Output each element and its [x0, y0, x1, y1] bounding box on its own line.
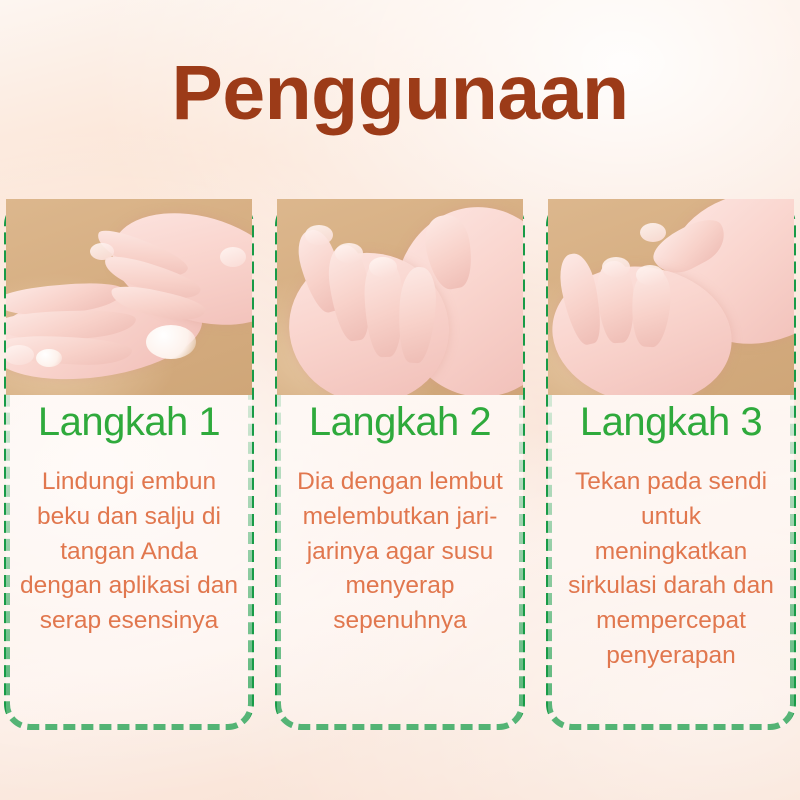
step-2-body: Dia dengan lembut melembutkan jari-jarin…: [281, 465, 519, 639]
fingernail-shape: [636, 265, 664, 285]
step-card-1-frame: Langkah 1 Lindungi embun beku dan salju …: [4, 199, 254, 730]
step-card-2: Langkah 2 Dia dengan lembut melembutkan …: [271, 193, 529, 800]
steps-row: Langkah 1 Lindungi embun beku dan salju …: [0, 193, 800, 800]
step-1-heading: Langkah 1: [38, 401, 220, 443]
usage-instructions-poster: Penggunaan: [0, 0, 800, 800]
fingernail-shape: [369, 257, 397, 277]
step-1-body: Lindungi embun beku dan salju di tangan …: [10, 465, 248, 639]
step-3-photo: [548, 199, 794, 395]
step-3-heading: Langkah 3: [580, 401, 762, 443]
step-2-heading: Langkah 2: [309, 401, 491, 443]
step-1-photo: [6, 199, 252, 395]
page-title-area: Penggunaan: [0, 0, 800, 193]
fingernail-shape: [90, 243, 114, 260]
step-2-photo: [277, 199, 523, 395]
step-card-2-frame: Langkah 2 Dia dengan lembut melembutkan …: [275, 199, 525, 730]
fingernail-shape: [220, 247, 246, 267]
cream-dab-shape: [36, 349, 62, 367]
fingernail-shape: [335, 243, 363, 263]
step-card-1: Langkah 1 Lindungi embun beku dan salju …: [0, 193, 258, 800]
page-title: Penggunaan: [171, 55, 628, 138]
step-card-3-frame: Langkah 3 Tekan pada sendi untuk meningk…: [546, 199, 796, 730]
step-3-body: Tekan pada sendi untuk meningkatkan sirk…: [552, 465, 790, 674]
fingernail-shape: [640, 223, 666, 242]
fingernail-shape: [602, 257, 630, 277]
cream-dab-shape: [146, 325, 196, 359]
fingernail-shape: [305, 225, 333, 245]
step-card-3: Langkah 3 Tekan pada sendi untuk meningk…: [542, 193, 800, 800]
